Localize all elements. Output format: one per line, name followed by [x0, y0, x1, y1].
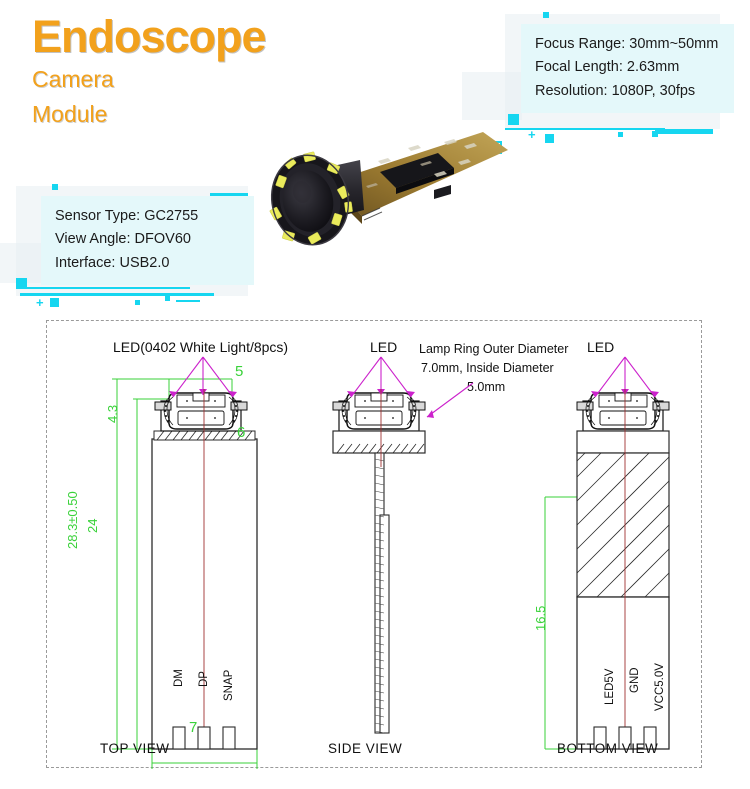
decor-line — [22, 287, 190, 289]
technical-drawing-panel: LED(0402 White Light/8pcs) LED LED Lamp … — [46, 320, 702, 768]
decor-line — [505, 128, 665, 130]
pin-label-dm: DM — [173, 669, 185, 687]
dimension-6: 6 — [237, 424, 245, 441]
product-photo — [258, 112, 508, 282]
decor-line — [20, 293, 214, 296]
page-subtitle-line1: Camera — [32, 65, 266, 94]
decor-line — [655, 129, 713, 134]
decor-plus: + — [528, 128, 536, 141]
sensor-spec-box: Sensor Type: GC2755 View Angle: DFOV60 I… — [41, 196, 254, 285]
page-subtitle-line2: Module — [32, 100, 266, 129]
decor-square — [165, 296, 170, 301]
pin-label-dp: DP — [198, 671, 210, 687]
pin-label-gnd: GND — [629, 667, 641, 693]
decor-plus: + — [36, 296, 44, 309]
decor-square — [543, 12, 549, 18]
spec-line: Resolution: 1080P, 30fps — [535, 80, 720, 103]
pin-label-vcc5v: VCC5.0V — [654, 663, 666, 711]
dimension-28-3: 28.3±0.50 — [65, 491, 80, 549]
spec-line: Focal Length: 2.63mm — [535, 56, 720, 79]
pin-label-snap: SNAP — [223, 670, 235, 701]
spec-line: Sensor Type: GC2755 — [55, 205, 240, 228]
bottom-view-drawing — [487, 349, 717, 769]
decor-square — [545, 134, 554, 143]
dimension-16-5: 16.5 — [533, 606, 548, 631]
page-title: Endoscope — [32, 14, 266, 59]
pin-label-led5v: LED5V — [604, 669, 616, 705]
product-spec-sheet: + + Endoscope Camera Module — [0, 0, 750, 789]
decor-line — [176, 300, 200, 302]
decor-square — [135, 300, 140, 305]
dimension-24: 24 — [85, 519, 100, 533]
decor-square — [652, 131, 658, 137]
title-block: Endoscope Camera Module — [32, 14, 266, 129]
spec-line: View Angle: DFOV60 — [55, 228, 240, 251]
decor-square — [52, 184, 58, 190]
top-view-label: TOP VIEW — [100, 741, 170, 756]
decor-square — [508, 114, 519, 125]
spec-line: Interface: USB2.0 — [55, 252, 240, 275]
decor-panel — [0, 243, 44, 283]
spec-line: Focus Range: 30mm~50mm — [535, 33, 720, 56]
decor-square — [50, 298, 59, 307]
side-view-label: SIDE VIEW — [328, 741, 402, 756]
optics-spec-box: Focus Range: 30mm~50mm Focal Length: 2.6… — [521, 24, 734, 113]
decor-square — [618, 132, 623, 137]
bottom-view-label: BOTTOM VIEW — [557, 741, 658, 756]
dimension-5: 5 — [235, 363, 243, 380]
dimension-7: 7 — [189, 719, 197, 736]
dimension-4-3: 4.3 — [105, 405, 120, 423]
side-view-drawing — [305, 349, 485, 769]
decor-square — [16, 278, 27, 289]
